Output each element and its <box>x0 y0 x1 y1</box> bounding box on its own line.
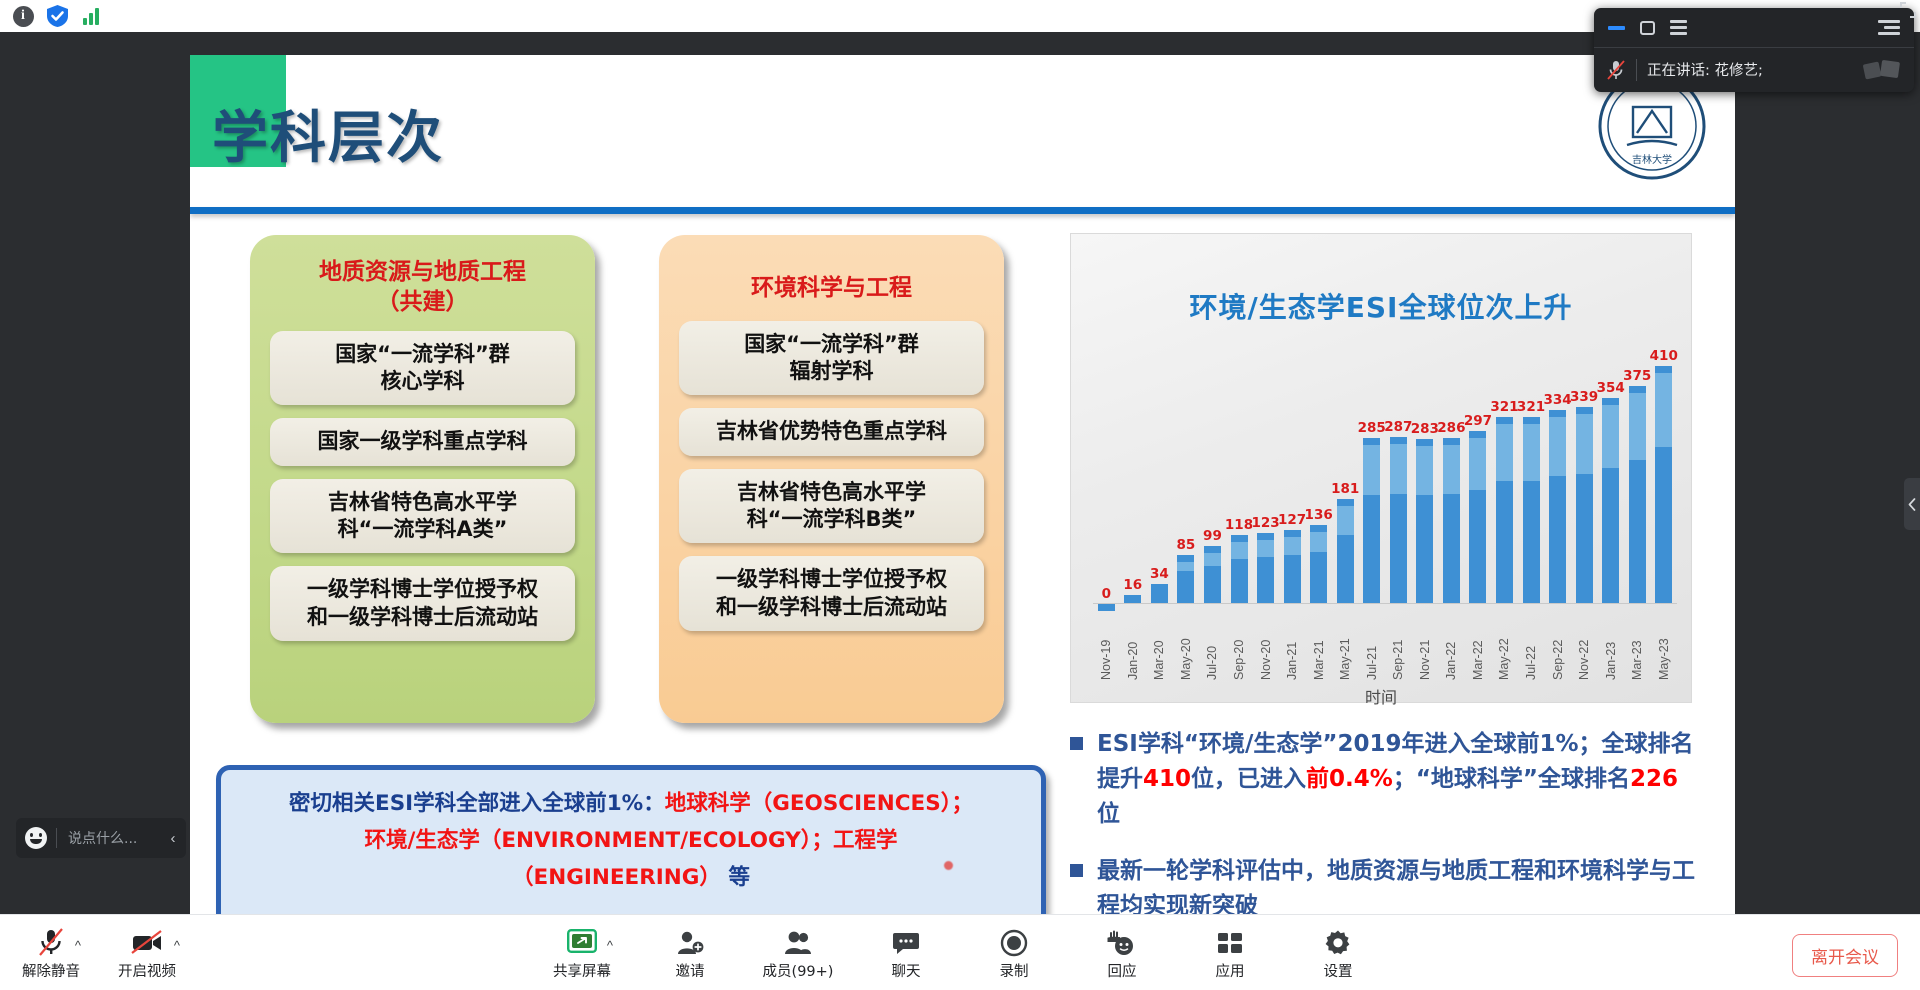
chart-x-tick: May-20 <box>1173 612 1200 680</box>
card-chip: 国家“一流学科”群辐射学科 <box>679 321 984 396</box>
card-chip: 一级学科博士学位授予权和一级学科博士后流动站 <box>679 556 984 631</box>
chart-x-tick: Jul-22 <box>1518 612 1545 680</box>
chart-title: 环境/生态学ESI全球位次上升 <box>1071 234 1691 326</box>
discipline-card-green: 地质资源与地质工程 （共建） 国家“一流学科”群核心学科 国家一级学科重点学科 … <box>250 235 595 723</box>
chart-bar-value-label: 321 <box>1490 399 1518 415</box>
chart-bar: 410 <box>1655 366 1672 604</box>
card-title: 地质资源与地质工程 （共建） <box>250 235 595 317</box>
laser-pointer-dot <box>944 861 953 870</box>
toolbar-item-label: 回应 <box>1108 960 1137 981</box>
chart-bar: 283 <box>1416 439 1433 604</box>
chart-x-tick: Jan-23 <box>1597 612 1624 680</box>
speaker-panel-titlebar <box>1594 8 1914 48</box>
chart-bar: 85 <box>1177 555 1194 604</box>
chart-bar-value-label: 127 <box>1278 512 1306 528</box>
chart-bar: 181 <box>1337 499 1354 604</box>
svg-text:吉林大学: 吉林大学 <box>1632 153 1672 166</box>
chart-bar-column: 354 <box>1597 354 1624 604</box>
card-chip-list: 国家“一流学科”群核心学科 国家一级学科重点学科 吉林省特色高水平学科“一流学科… <box>250 331 595 641</box>
chart-bar: 354 <box>1602 398 1619 604</box>
chart-bar: 34 <box>1151 584 1168 604</box>
card-chip: 一级学科博士学位授予权和一级学科博士后流动站 <box>270 566 575 641</box>
toolbar-item-label: 邀请 <box>676 960 705 981</box>
chart-bar-column: 375 <box>1624 354 1651 604</box>
video-muted-icon: ^ <box>130 923 164 957</box>
chart-x-tick: Nov-19 <box>1093 612 1120 680</box>
bullet-span: 位，已进入 <box>1191 766 1306 792</box>
toolbar-item-label: 解除静音 <box>22 960 80 981</box>
chart-bar-column: 283 <box>1412 354 1439 604</box>
chevron-up-icon[interactable]: ^ <box>174 938 180 953</box>
fullscreen-corner-icon[interactable] <box>1900 2 1916 18</box>
chart-bar-column: 334 <box>1544 354 1571 604</box>
chart-bar: 285 <box>1363 438 1380 604</box>
mic-muted-icon <box>1606 59 1626 81</box>
active-speaker-panel[interactable]: 正在讲话: 花修艺; <box>1594 8 1914 92</box>
chart-bar-column: 181 <box>1332 354 1359 604</box>
card-chip: 国家一级学科重点学科 <box>270 418 575 465</box>
chart-bar-column: 339 <box>1571 354 1598 604</box>
chart-bar-column: 285 <box>1358 354 1385 604</box>
card-chip: 吉林省优势特色重点学科 <box>679 408 984 455</box>
bullet-square-icon <box>1070 737 1083 750</box>
mic-muted-icon: ^ <box>37 923 65 957</box>
speaker-panel-body: 正在讲话: 花修艺; <box>1594 48 1914 91</box>
chart-x-tick: Jan-22 <box>1438 612 1465 680</box>
toolbar-participants-button[interactable]: 成员(99+) <box>761 923 835 981</box>
settings-gear-icon <box>1324 923 1352 957</box>
chart-x-axis-title: 时间 <box>1071 684 1691 708</box>
toolbar-item-label: 录制 <box>1000 960 1029 981</box>
toolbar-left-group: ^ 解除静音 ^ 开启视频 <box>14 923 184 981</box>
chart-bar-value-label: 286 <box>1437 420 1465 436</box>
chart-bar-value-label: 410 <box>1650 348 1678 364</box>
info-icon[interactable]: i <box>12 5 34 27</box>
bullet-highlight: 前0.4% <box>1306 766 1393 792</box>
card-chip-list: 国家“一流学科”群辐射学科 吉林省优势特色重点学科 吉林省特色高水平学科“一流学… <box>659 321 1004 631</box>
chart-bar-value-label: 16 <box>1123 577 1142 593</box>
toolbar-item-label: 应用 <box>1216 960 1245 981</box>
minimize-icon[interactable] <box>1608 26 1625 30</box>
record-icon <box>1000 923 1028 957</box>
chart-x-tick-labels: Nov-19Jan-20Mar-20May-20Jul-20Sep-20Nov-… <box>1093 612 1677 680</box>
chart-bar: 286 <box>1443 438 1460 604</box>
card-title-line1: 地质资源与地质工程 <box>250 257 595 287</box>
toolbar-share-screen-button[interactable]: ^ 共享屏幕 <box>545 923 619 981</box>
esi-line3-red: （ENGINEERING） <box>512 865 721 890</box>
chart-bar-value-label: 136 <box>1305 507 1333 523</box>
chart-bar: 297 <box>1469 431 1486 604</box>
chart-x-tick: Mar-23 <box>1624 612 1651 680</box>
chart-x-tick: Sep-22 <box>1544 612 1571 680</box>
esi-summary-text: 密切相关ESI学科全部进入全球前1%：地球科学（GEOSCIENCES）； 环境… <box>239 786 1023 897</box>
toolbar-item-label: 聊天 <box>892 960 921 981</box>
chart-bar: 339 <box>1576 407 1593 604</box>
chart-bar-value-label: 0 <box>1102 586 1111 602</box>
chart-x-tick: Nov-22 <box>1571 612 1598 680</box>
toolbar-settings-button[interactable]: 设置 <box>1301 923 1375 981</box>
chart-bar-value-label: 118 <box>1225 517 1253 533</box>
chart-bar-value-label: 375 <box>1623 368 1651 384</box>
card-chip: 吉林省特色高水平学科“一流学科B类” <box>679 469 984 544</box>
chat-input-bar[interactable]: 说点什么... ‹ <box>16 818 186 858</box>
chart-bar-column: 118 <box>1226 354 1253 604</box>
chart-bar-column: 123 <box>1252 354 1279 604</box>
shield-check-icon[interactable] <box>46 5 68 27</box>
chart-bar: 123 <box>1257 533 1274 605</box>
divider <box>1636 59 1637 81</box>
chart-bar: 99 <box>1204 546 1221 604</box>
expand-right-icon[interactable] <box>1878 20 1900 35</box>
bullet-highlight: 410 <box>1143 766 1191 792</box>
chart-bar-value-label: 283 <box>1411 421 1439 437</box>
chart-bar-value-label: 354 <box>1597 380 1625 396</box>
toolbar-reactions-button[interactable]: 回应 <box>1085 923 1159 981</box>
toolbar-record-button[interactable]: 录制 <box>977 923 1051 981</box>
chart-x-tick: Mar-22 <box>1465 612 1492 680</box>
avatar <box>1862 57 1902 83</box>
page-title: 学科层次 <box>212 93 444 174</box>
chart-x-tick: Jul-21 <box>1358 612 1385 680</box>
chart-bar-column: 321 <box>1491 354 1518 604</box>
chart-bar-value-label: 297 <box>1464 413 1492 429</box>
list-icon[interactable] <box>1670 20 1687 35</box>
chart-bar-value-label: 181 <box>1331 481 1359 497</box>
chart-bar-column: 297 <box>1465 354 1492 604</box>
reactions-icon <box>1107 923 1137 957</box>
invite-icon <box>675 923 705 957</box>
toolbar-item-label: 开启视频 <box>118 960 176 981</box>
card-title-line2: （共建） <box>250 287 595 317</box>
chart-x-tick: Sep-20 <box>1226 612 1253 680</box>
toolbar-item-label: 成员(99+) <box>763 960 834 981</box>
card-chip: 吉林省特色高水平学科“一流学科A类” <box>270 479 575 554</box>
chart-bar-value-label: 123 <box>1251 515 1279 531</box>
chart-x-tick: Nov-20 <box>1252 612 1279 680</box>
title-divider <box>190 207 1735 214</box>
slide-bullets: ESI学科“环境/生态学”2019年进入全球前1%；全球排名提升410位，已进入… <box>1070 727 1700 935</box>
discipline-card-orange: 环境科学与工程 国家“一流学科”群辐射学科 吉林省优势特色重点学科 吉林省特色高… <box>659 235 1004 723</box>
chart-bar-column: 99 <box>1199 354 1226 604</box>
chart-bar-value-label: 334 <box>1543 392 1571 408</box>
chart-x-tick: Sep-21 <box>1385 612 1412 680</box>
chart-x-tick: Jan-21 <box>1279 612 1306 680</box>
chart-bar-column: 127 <box>1279 354 1306 604</box>
chart-bar-column: 321 <box>1518 354 1545 604</box>
share-screen-icon: ^ <box>567 923 597 957</box>
chart-x-tick: May-23 <box>1650 612 1677 680</box>
signal-bars-icon[interactable] <box>80 5 102 27</box>
esi-summary-box: 密切相关ESI学科全部进入全球前1%：地球科学（GEOSCIENCES）； 环境… <box>216 765 1046 929</box>
meeting-stage: 学科层次 吉林大学 地质资源与地质工程 （共建） 国家“一流学科”群核心学科 国… <box>0 32 1920 914</box>
toolbar-center-group: ^ 共享屏幕 邀请 <box>545 923 1375 981</box>
chart-bar: 118 <box>1231 535 1248 604</box>
meeting-toolbar: ^ 解除静音 ^ 开启视频 <box>0 914 1920 990</box>
window-icon[interactable] <box>1640 21 1655 35</box>
chart-bar-column: 136 <box>1305 354 1332 604</box>
chart-bar: 321 <box>1523 417 1540 604</box>
toolbar-chat-button[interactable]: 聊天 <box>869 923 943 981</box>
chevron-up-icon[interactable]: ^ <box>607 938 613 953</box>
chart-bar-value-label: 287 <box>1384 419 1412 435</box>
chart-x-tick: Nov-21 <box>1412 612 1439 680</box>
chart-bar-column: 34 <box>1146 354 1173 604</box>
esi-line1-red: 地球科学（GEOSCIENCES）； <box>665 791 973 816</box>
toolbar-unmute-button[interactable]: ^ 解除静音 <box>14 923 88 981</box>
chart-plot-area: 0163485991181231271361812852872832862973… <box>1093 354 1677 604</box>
chart-bar-value-label: 321 <box>1517 399 1545 415</box>
card-title: 环境科学与工程 <box>659 235 1004 303</box>
shared-slide: 学科层次 吉林大学 地质资源与地质工程 （共建） 国家“一流学科”群核心学科 国… <box>190 55 1735 935</box>
esi-ranking-chart: 环境/生态学ESI全球位次上升 016348599118123127136181… <box>1070 233 1692 703</box>
chart-x-axis <box>1093 603 1677 604</box>
bullet-highlight: 226 <box>1630 766 1678 792</box>
chart-bar-value-label: 285 <box>1358 420 1386 436</box>
bullet-item: ESI学科“环境/生态学”2019年进入全球前1%；全球排名提升410位，已进入… <box>1070 727 1700 832</box>
chart-bar-value-label: 339 <box>1570 389 1598 405</box>
chevron-left-icon <box>1908 498 1916 511</box>
chart-bar-column: 287 <box>1385 354 1412 604</box>
chart-bar: 321 <box>1496 417 1513 604</box>
esi-line2-red: 环境/生态学（ENVIRONMENT/ECOLOGY）；工程学 <box>364 828 897 853</box>
chart-x-tick: May-21 <box>1332 612 1359 680</box>
bullet-square-icon <box>1070 864 1083 877</box>
emoji-icon[interactable] <box>16 827 56 849</box>
chart-x-tick: Jul-20 <box>1199 612 1226 680</box>
chart-bar-value-label: 34 <box>1150 566 1169 582</box>
chart-x-tick: Jan-20 <box>1120 612 1147 680</box>
chart-bar: 375 <box>1629 386 1646 604</box>
toolbar-invite-button[interactable]: 邀请 <box>653 923 727 981</box>
chart-bar-column: 410 <box>1650 354 1677 604</box>
chart-bar: 334 <box>1549 410 1566 604</box>
chart-x-tick: Mar-20 <box>1146 612 1173 680</box>
panel-expand-handle[interactable] <box>1904 478 1920 530</box>
esi-line3-plain: 等 <box>728 865 750 890</box>
chart-bar: 127 <box>1284 530 1301 604</box>
apps-icon <box>1216 923 1244 957</box>
chart-bar: 136 <box>1310 525 1327 604</box>
card-chip: 国家“一流学科”群核心学科 <box>270 331 575 406</box>
chart-bar: 287 <box>1390 437 1407 604</box>
chart-x-tick: May-22 <box>1491 612 1518 680</box>
leave-meeting-button[interactable]: 离开会议 <box>1792 934 1898 977</box>
chat-icon <box>891 923 921 957</box>
card-title-line1: 环境科学与工程 <box>659 273 1004 303</box>
chart-bar-column: 16 <box>1120 354 1147 604</box>
chart-bar-value-label: 99 <box>1203 528 1222 544</box>
chat-input-placeholder[interactable]: 说点什么... <box>57 828 160 848</box>
esi-line1-plain: 密切相关ESI学科全部进入全球前1%： <box>289 791 665 816</box>
chart-bar-value-label: 85 <box>1177 537 1196 553</box>
bullet-span: ；“地球科学”全球排名 <box>1393 766 1630 792</box>
chevron-up-icon[interactable]: ^ <box>75 938 81 953</box>
chevron-left-icon[interactable]: ‹ <box>160 830 186 847</box>
chart-bars: 0163485991181231271361812852872832862973… <box>1093 354 1677 604</box>
bullet-text: ESI学科“环境/生态学”2019年进入全球前1%；全球排名提升410位，已进入… <box>1097 727 1700 832</box>
toolbar-apps-button[interactable]: 应用 <box>1193 923 1267 981</box>
chart-bar-column: 85 <box>1173 354 1200 604</box>
toolbar-item-label: 共享屏幕 <box>553 960 611 981</box>
chart-bar-column: 286 <box>1438 354 1465 604</box>
toolbar-start-video-button[interactable]: ^ 开启视频 <box>110 923 184 981</box>
active-speaker-label: 正在讲话: 花修艺; <box>1647 59 1763 80</box>
toolbar-item-label: 设置 <box>1324 960 1353 981</box>
chart-x-tick: Mar-21 <box>1305 612 1332 680</box>
bullet-span: 位 <box>1097 801 1120 827</box>
chart-bar-column: 0 <box>1093 354 1120 604</box>
bullet-span: 最新一轮学科评估中，地质资源与地质工程和环境科学与工程均实现新突破 <box>1097 858 1695 919</box>
participants-icon <box>783 923 813 957</box>
